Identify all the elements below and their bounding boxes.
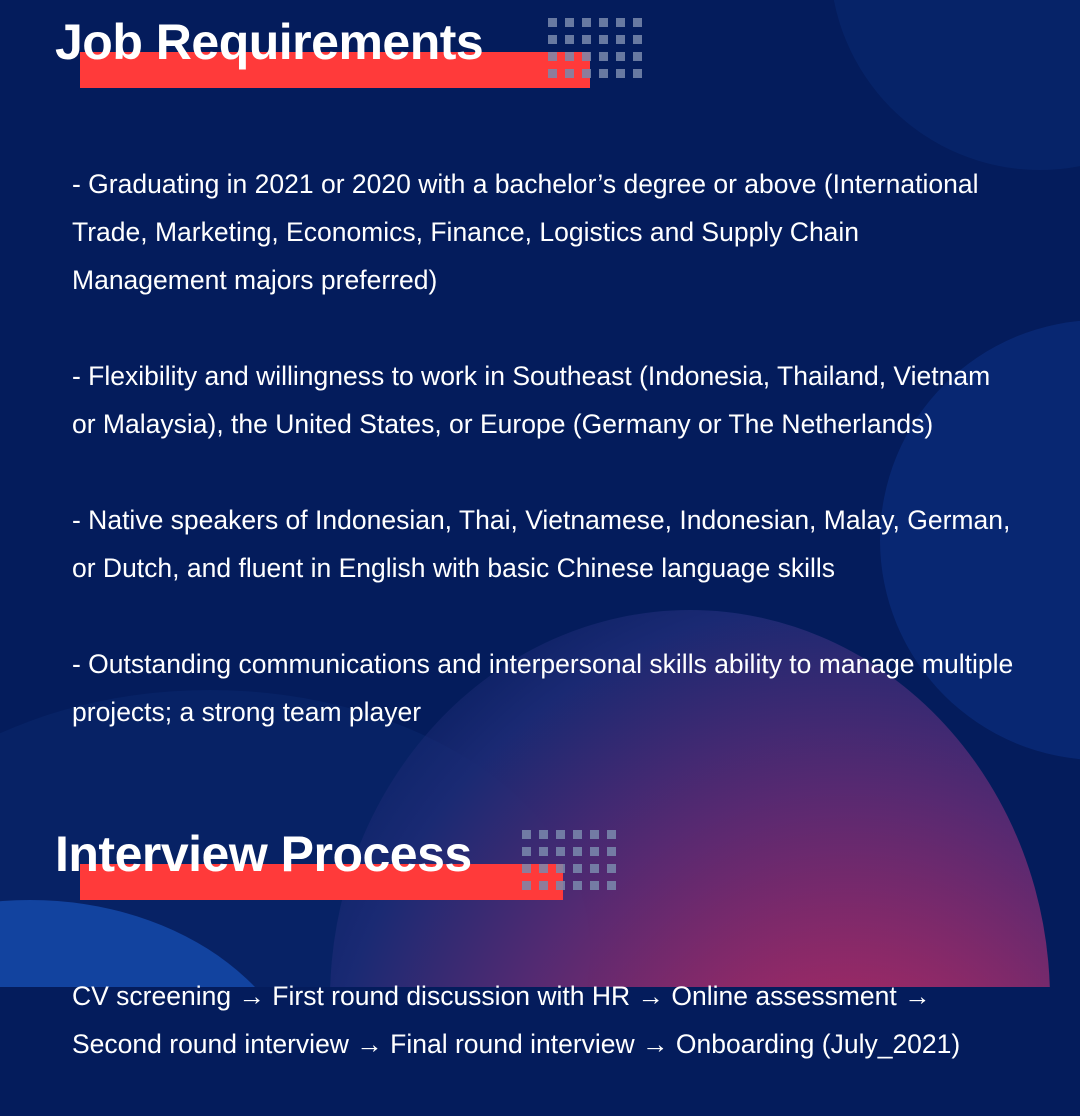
requirement-item: - Outstanding communications and interpe… xyxy=(72,640,1020,736)
requirement-item: - Native speakers of Indonesian, Thai, V… xyxy=(72,496,1020,592)
dot-grid-decoration xyxy=(522,830,624,898)
process-step-flow: CV screening → First round discussion wi… xyxy=(72,972,1020,1068)
page-title: Job Requirements xyxy=(55,17,483,67)
requirement-item: - Graduating in 2021 or 2020 with a bach… xyxy=(72,160,1020,304)
section-title: Interview Process xyxy=(55,829,472,879)
dot-grid-decoration xyxy=(548,18,650,86)
heading-row-interview-process: Interview Process xyxy=(0,812,1080,908)
section-interview-process: Interview Process CV screening → First r… xyxy=(0,812,1080,1116)
page-content: Job Requirements - Graduating in 2021 or… xyxy=(0,0,1080,1116)
section-job-requirements: Job Requirements - Graduating in 2021 or… xyxy=(0,0,1080,784)
job-requirements-list: - Graduating in 2021 or 2020 with a bach… xyxy=(0,112,1080,784)
heading-row-job-requirements: Job Requirements xyxy=(0,0,1080,96)
interview-process-steps: CV screening → First round discussion wi… xyxy=(0,924,1080,1116)
requirement-item: - Flexibility and willingness to work in… xyxy=(72,352,1020,448)
